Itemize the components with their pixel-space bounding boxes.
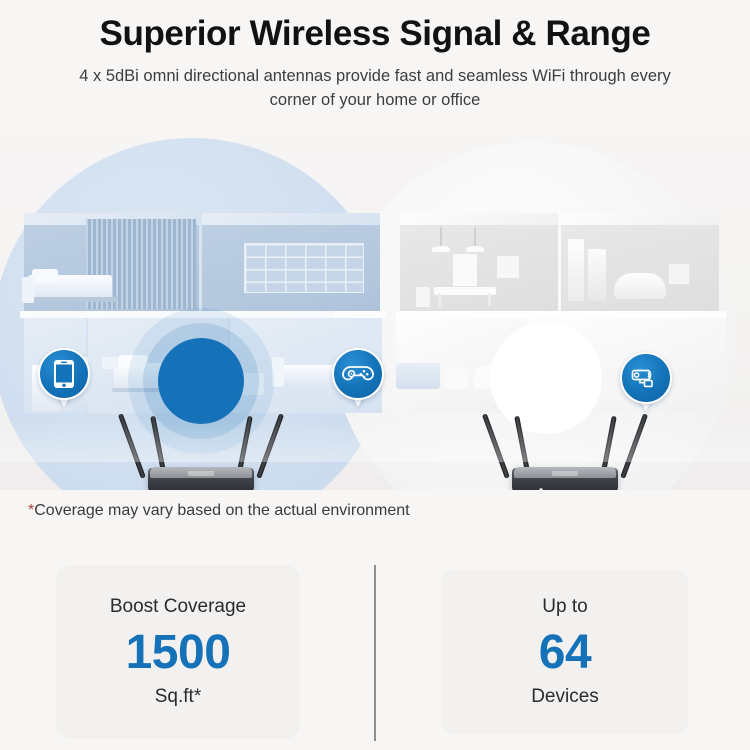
stat-coverage-label: Boost Coverage — [110, 596, 246, 618]
stat-devices-value: 64 — [539, 625, 591, 681]
stats-divider — [374, 565, 376, 741]
stats-section: Boost Coverage 1500 Sq.ft* Up to 64 Devi… — [0, 555, 750, 750]
coverage-illustration: AP/Router Repeater — [0, 130, 750, 490]
gamepad-icon — [332, 348, 384, 400]
stat-card-devices: Up to 64 Devices — [442, 569, 688, 735]
header-section: Superior Wireless Signal & Range 4 x 5dB… — [0, 0, 750, 130]
pin-smartphone[interactable] — [38, 348, 90, 400]
smartphone-icon — [38, 348, 90, 400]
stat-coverage-unit: Sq.ft* — [155, 686, 201, 708]
router-ap — [148, 460, 254, 490]
security-camera-icon — [620, 352, 672, 404]
disclaimer-text: Coverage may vary based on the actual en… — [34, 502, 409, 519]
pin-security-camera[interactable] — [620, 352, 672, 404]
stat-card-coverage: Boost Coverage 1500 Sq.ft* — [56, 565, 300, 739]
page-title: Superior Wireless Signal & Range — [0, 12, 750, 56]
coverage-disclaimer: *Coverage may vary based on the actual e… — [28, 502, 410, 520]
page-subtitle: 4 x 5dBi omni directional antennas provi… — [55, 64, 695, 112]
stat-devices-label: Up to — [542, 596, 587, 618]
pin-gamepad[interactable] — [332, 348, 384, 400]
stat-coverage-value: 1500 — [126, 625, 231, 681]
signal-halo-inner — [158, 338, 244, 424]
stat-devices-unit: Devices — [531, 686, 599, 708]
router-repeater — [512, 460, 618, 490]
repeater-halo — [490, 322, 602, 434]
